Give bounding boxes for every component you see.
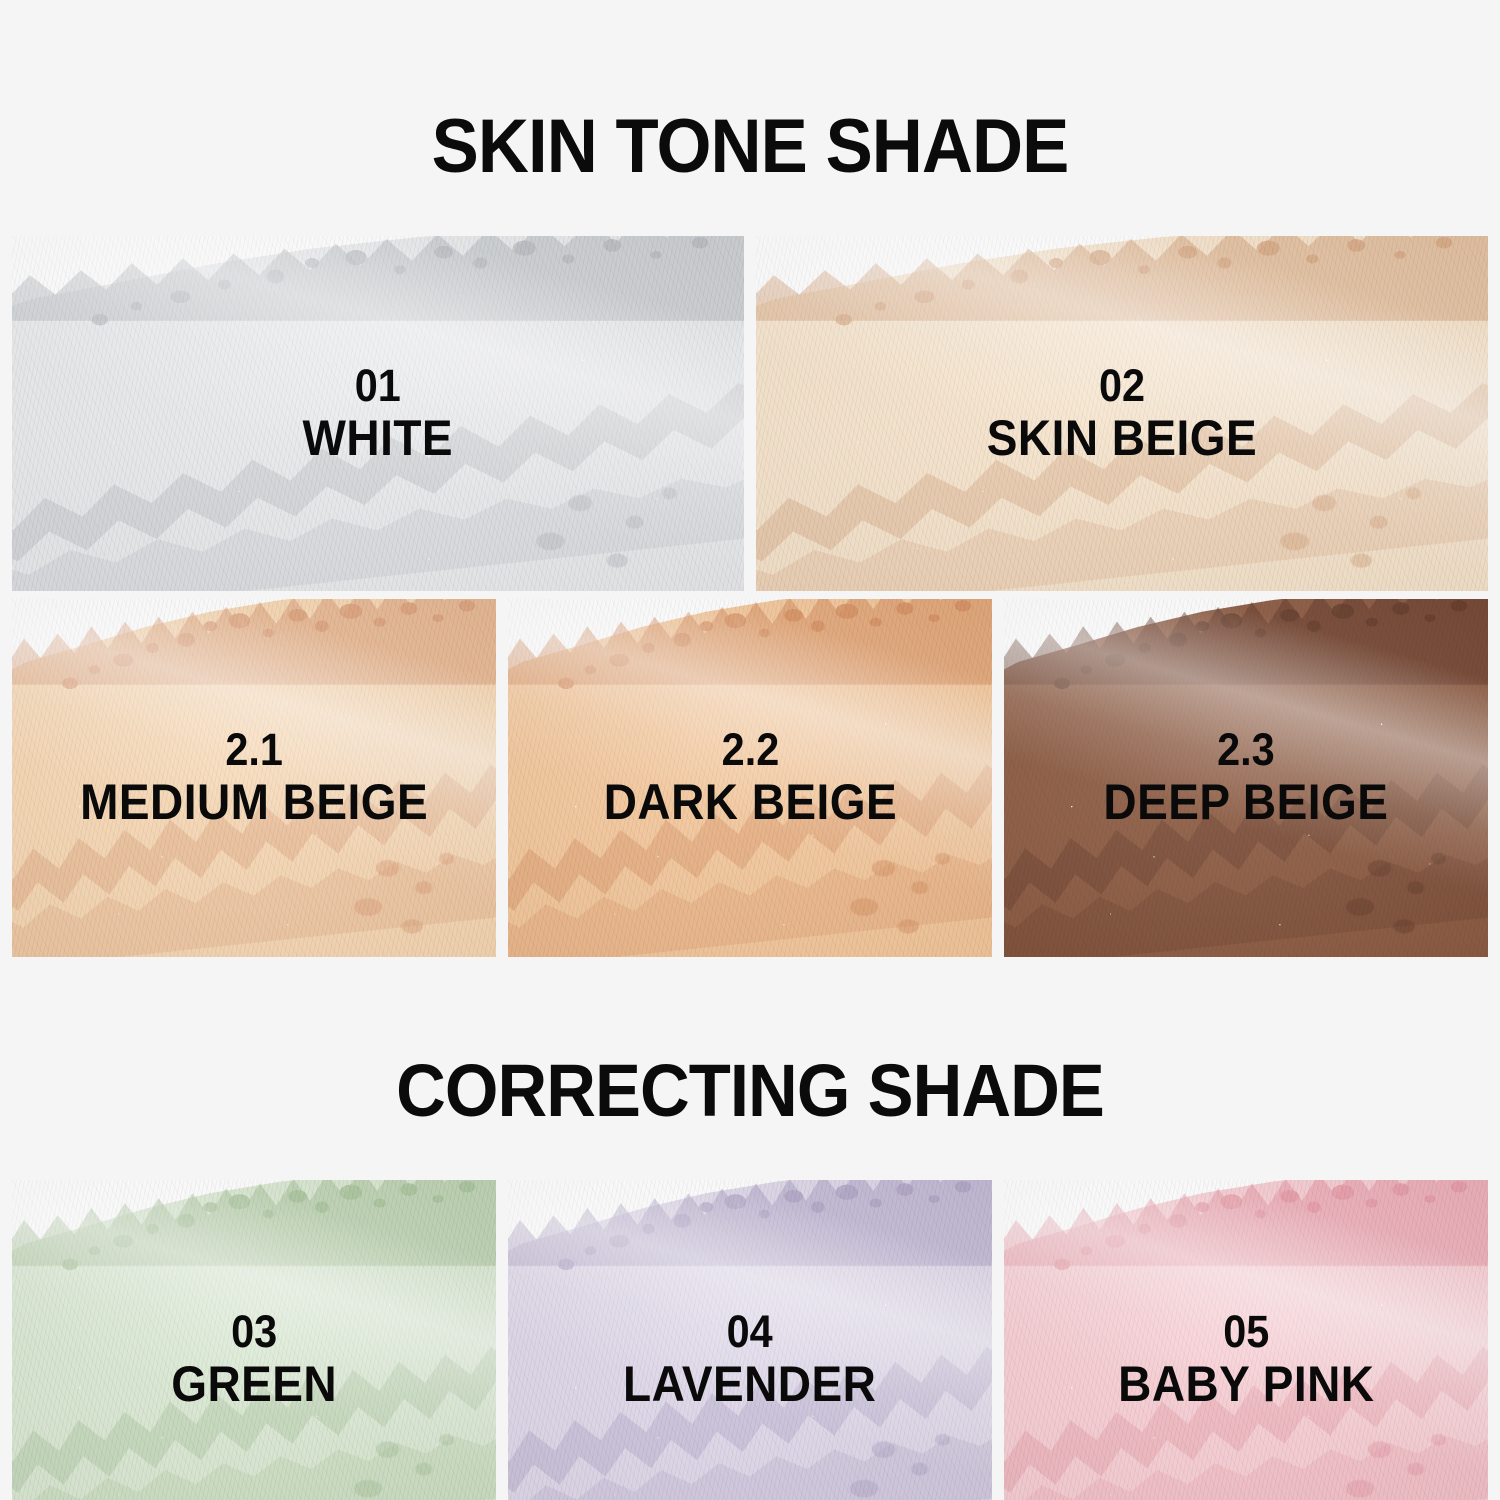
- swatch-tile-23-deep-beige[interactable]: 2.3 DEEP BEIGE: [1004, 599, 1488, 957]
- swatch-name: DARK BEIGE: [603, 776, 896, 829]
- swatch-label: 04 LAVENDER: [623, 1308, 876, 1411]
- swatch-tile-04-lavender[interactable]: 04 LAVENDER: [508, 1180, 992, 1500]
- swatch-code: 2.1: [80, 726, 428, 774]
- section-heading-correcting: CORRECTING SHADE: [53, 1006, 1448, 1128]
- swatch-label: 05 BABY PINK: [1118, 1308, 1374, 1411]
- swatch-tile-21-medium-beige[interactable]: 2.1 MEDIUM BEIGE: [12, 599, 496, 957]
- swatch-name: SKIN BEIGE: [987, 412, 1257, 465]
- section-heading-skin-tone: SKIN TONE SHADE: [53, 51, 1448, 185]
- swatch-label: 2.1 MEDIUM BEIGE: [80, 726, 428, 829]
- swatch-label: 2.2 DARK BEIGE: [603, 726, 896, 829]
- swatch-code: 2.3: [1104, 726, 1389, 774]
- swatch-name: MEDIUM BEIGE: [80, 776, 428, 829]
- swatch-row-skin-tone-1: 01 WHITE 02 SKIN BEIGE: [0, 236, 1500, 591]
- swatch-tile-22-dark-beige[interactable]: 2.2 DARK BEIGE: [508, 599, 992, 957]
- swatch-code: 02: [987, 362, 1257, 410]
- swatch-label: 01 WHITE: [303, 362, 454, 465]
- swatch-row-skin-tone-2: 2.1 MEDIUM BEIGE 2.2 DARK BEIGE: [0, 599, 1500, 957]
- swatch-row-correcting: 03 GREEN 04 LAVENDER: [0, 1180, 1500, 1500]
- swatch-tile-02-skin-beige[interactable]: 02 SKIN BEIGE: [756, 236, 1488, 591]
- swatch-code: 05: [1118, 1308, 1374, 1356]
- swatch-code: 01: [303, 362, 454, 410]
- swatch-code: 03: [171, 1308, 337, 1356]
- swatch-tile-01-white[interactable]: 01 WHITE: [12, 236, 744, 591]
- swatch-code: 04: [623, 1308, 876, 1356]
- swatch-tile-03-green[interactable]: 03 GREEN: [12, 1180, 496, 1500]
- swatch-name: WHITE: [303, 412, 454, 465]
- swatch-label: 03 GREEN: [171, 1308, 337, 1411]
- shade-chart-page: SKIN TONE SHADE 01 WHITE: [0, 51, 1500, 1500]
- swatch-code: 2.2: [603, 726, 896, 774]
- swatch-name: DEEP BEIGE: [1104, 776, 1389, 829]
- swatch-name: LAVENDER: [623, 1358, 876, 1411]
- swatch-label: 2.3 DEEP BEIGE: [1104, 726, 1389, 829]
- swatch-name: GREEN: [171, 1358, 337, 1411]
- swatch-name: BABY PINK: [1118, 1358, 1374, 1411]
- swatch-tile-05-baby-pink[interactable]: 05 BABY PINK: [1004, 1180, 1488, 1500]
- swatch-label: 02 SKIN BEIGE: [987, 362, 1257, 465]
